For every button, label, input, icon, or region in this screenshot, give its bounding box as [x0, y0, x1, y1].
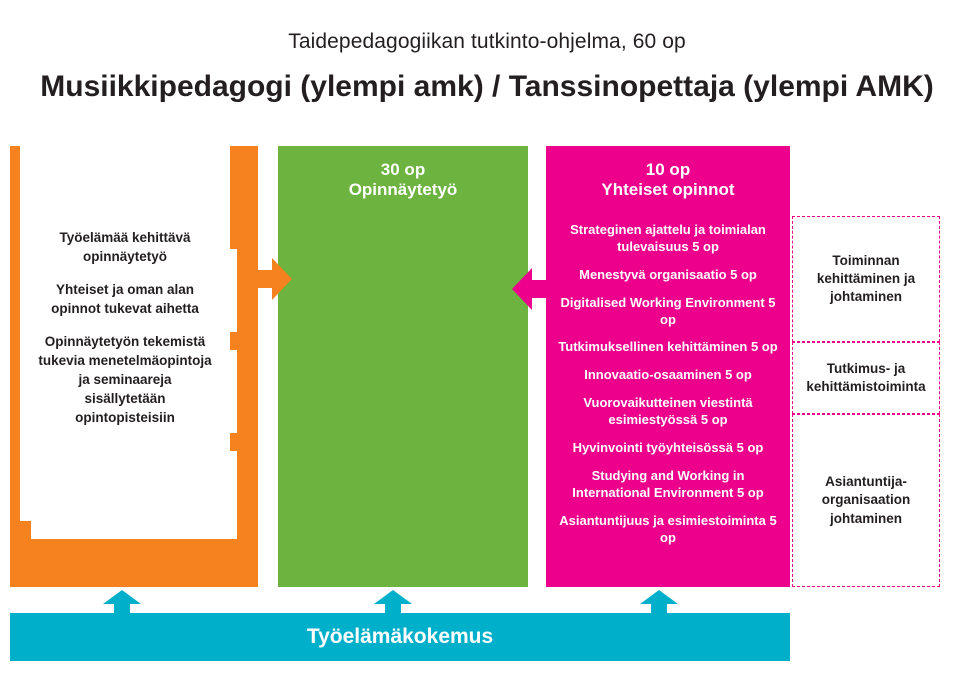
theme-box: Toiminnan kehittäminen ja johtaminen: [792, 216, 940, 342]
page-title: Musiikkipedagogi (ylempi amk) / Tanssino…: [0, 70, 974, 104]
pink-course-item: Strateginen ajattelu ja toimialan tuleva…: [546, 222, 790, 256]
green-body: [278, 212, 528, 587]
arrow-left-icon: [512, 268, 554, 310]
pink-course-item: Asiantuntijuus ja esimiestoiminta 5 op: [546, 513, 790, 547]
column-common-studies: 10 op Yhteiset opinnot Strateginen ajatt…: [546, 146, 790, 587]
thesis-paragraph: Opinnäytetyön tekemistä tukevia menetelm…: [38, 333, 212, 427]
column-green-header: 30 op Opinnäytetyö: [278, 146, 528, 200]
column-pink-header: 10 op Yhteiset opinnot: [546, 146, 790, 200]
pink-course-item: Tutkimuksellinen kehittäminen 5 op: [546, 339, 790, 356]
working-life-experience-bar: Työelämäkokemus: [10, 613, 790, 661]
pink-course-item: Menestyvä organisaatio 5 op: [546, 267, 790, 284]
theme-box: Tutkimus- ja kehittämistoiminta: [792, 342, 940, 414]
arrow-right-icon: [250, 258, 292, 300]
column-thesis: 30 op Opinnäytetyö: [278, 146, 528, 587]
pink-course-list: Strateginen ajattelu ja toimialan tuleva…: [546, 212, 790, 587]
pink-course-item: Hyvinvointi työyhteisössä 5 op: [546, 440, 790, 457]
thesis-paragraph: Yhteiset ja oman alan opinnot tukevat ai…: [38, 281, 212, 319]
program-subtitle: Taidepedagogiikan tutkinto-ohjelma, 60 o…: [0, 30, 974, 54]
pink-course-item: Vuorovaikutteinen viestintä esimiestyöss…: [546, 395, 790, 429]
pink-course-item: Digitalised Working Environment 5 op: [546, 295, 790, 329]
pink-course-item: Studying and Working in International En…: [546, 468, 790, 502]
thesis-paragraph: Työelämää kehittävä opinnäytetyö: [38, 229, 212, 267]
thesis-description-box: Työelämää kehittävä opinnäytetyö Yhteise…: [20, 136, 230, 521]
theme-box: Asiantuntija-organisaation johtaminen: [792, 414, 940, 587]
pink-course-item: Innovaatio-osaaminen 5 op: [546, 367, 790, 384]
